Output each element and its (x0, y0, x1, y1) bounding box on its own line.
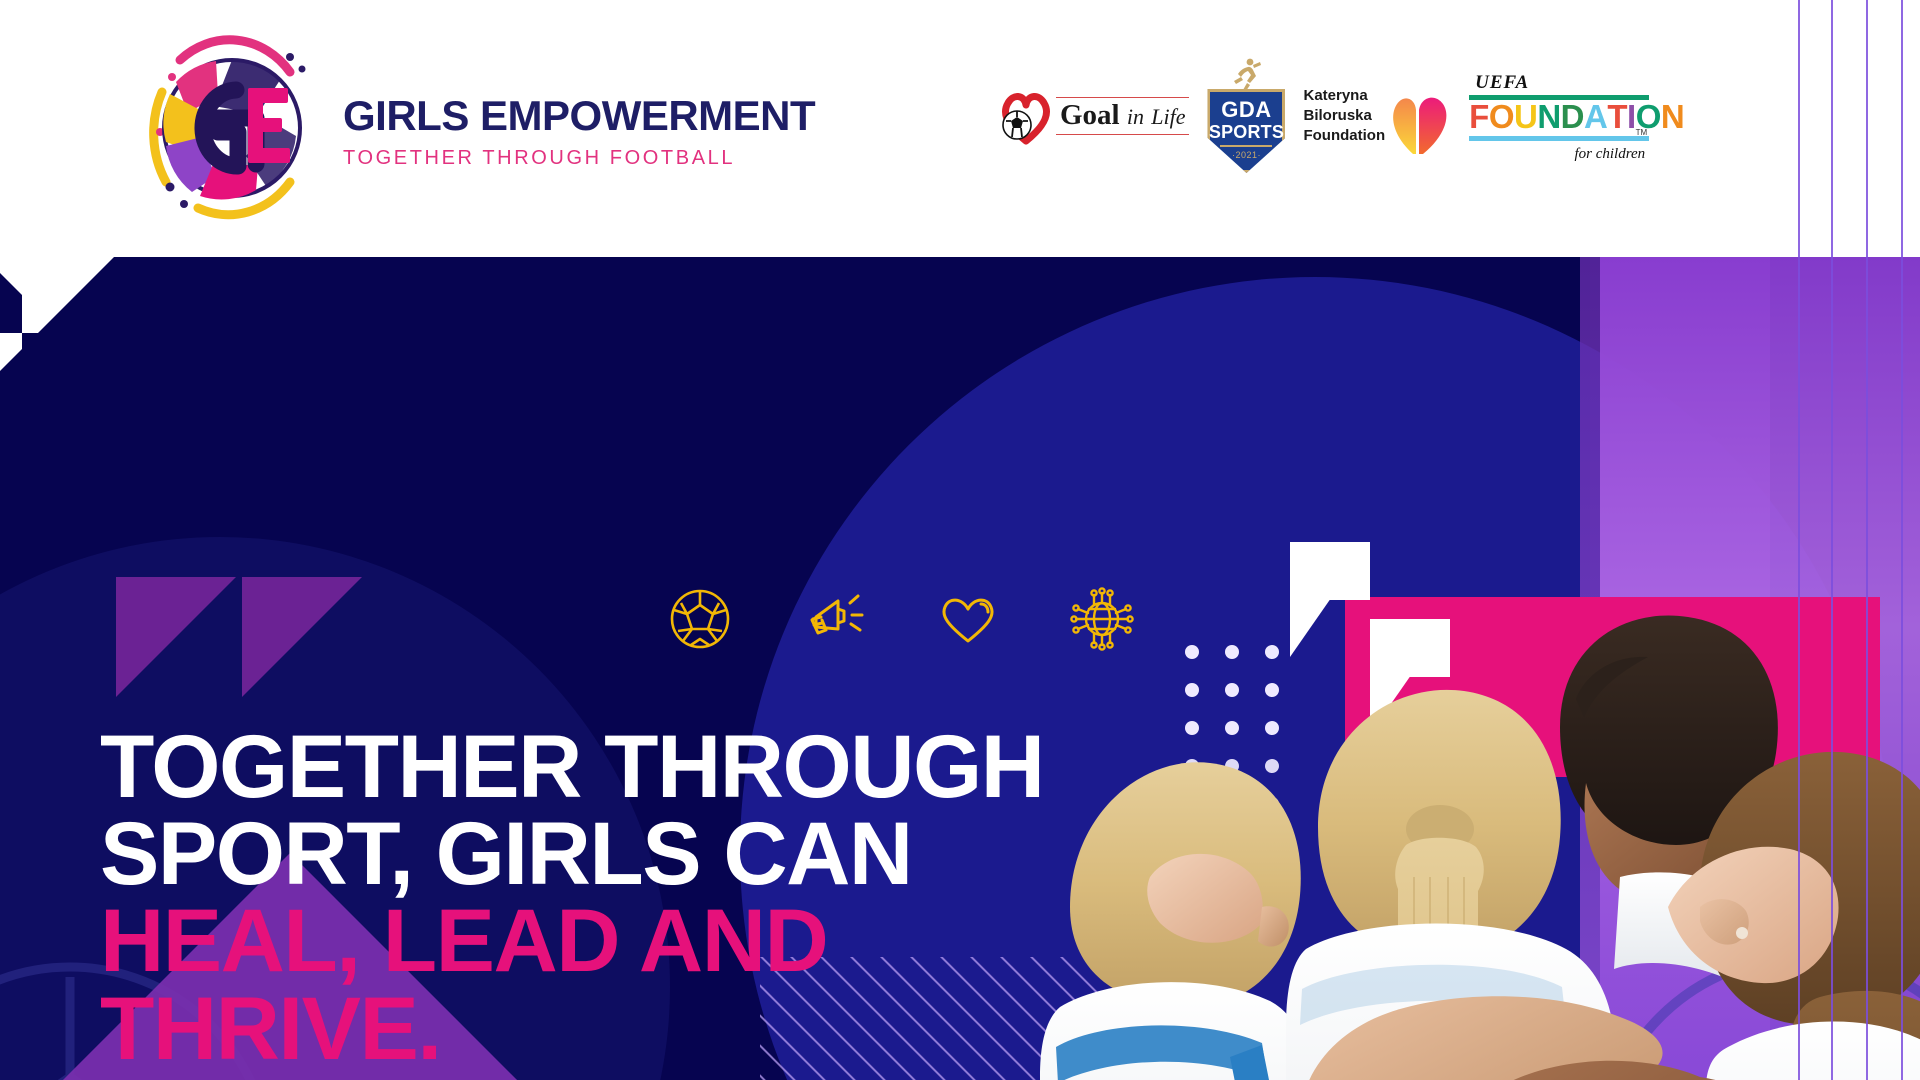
uefa-foundation-wordmark: FOUNDATION (1469, 100, 1649, 135)
gda-divider (1220, 145, 1272, 147)
kb-text-block: Kateryna Biloruska Foundation (1303, 86, 1385, 145)
goal-word-in: in (1127, 104, 1144, 129)
gda-year: ·2021· (1232, 150, 1261, 160)
icon-row (668, 587, 1134, 651)
kb-line2: Biloruska (1303, 106, 1385, 126)
megaphone-icon (802, 587, 866, 651)
partner-logo-uefa-foundation[interactable]: UEFA FOUNDATION TM for children (1469, 69, 1649, 164)
players-hug-photo (1000, 577, 1920, 1080)
heart-with-soccer-ball-icon (1000, 87, 1052, 145)
gda-shield: GDA SPORTS ·2021· (1207, 89, 1285, 173)
gda-line2: SPORTS (1209, 123, 1284, 141)
stair-diagonal-tl-mask (0, 257, 124, 397)
brand-subtitle: TOGETHER THROUGH FOOTBALL (343, 147, 815, 170)
goal-word-life: Life (1151, 104, 1185, 129)
purple-triangle-2 (242, 577, 362, 697)
goal-word-main: Goal (1060, 99, 1120, 131)
partner-logo-goal-in-life[interactable]: Goal in Life (1000, 87, 1189, 145)
goal-in-life-wordmark: Goal in Life (1056, 97, 1189, 135)
partner-logo-gda-sports[interactable]: GDA SPORTS ·2021· (1203, 57, 1289, 175)
headline-line-4: THRIVE. (100, 985, 1043, 1072)
headline-line-3: HEAL, LEAD AND (100, 897, 1043, 984)
global-network-icon (1070, 587, 1134, 651)
soccer-ball-icon (668, 587, 732, 651)
partner-logos: Goal in Life (1000, 56, 1649, 176)
headline-line-1: TOGETHER THROUGH (100, 723, 1043, 810)
girls-empowerment-ball-logo (140, 32, 315, 222)
uefa-bar-blue (1469, 136, 1649, 141)
purple-triangle-1 (116, 577, 236, 697)
brand-text-block: GIRLS EMPOWERMENT TOGETHER THROUGH FOOTB… (343, 84, 815, 170)
double-heart-icon (1383, 76, 1455, 156)
headline-line-2: SPORT, GIRLS CAN (100, 810, 1043, 897)
hero-headline: TOGETHER THROUGH SPORT, GIRLS CAN HEAL, … (100, 723, 1043, 1072)
brand-title: GIRLS EMPOWERMENT (343, 94, 815, 138)
kb-line1: Kateryna (1303, 86, 1385, 106)
heart-icon (936, 587, 1000, 651)
hero-banner: TOGETHER THROUGH SPORT, GIRLS CAN HEAL, … (0, 257, 1920, 1080)
uefa-tagline: for children (1469, 146, 1649, 163)
uefa-trademark: TM (1636, 128, 1648, 137)
partner-logo-kateryna-biloruska-foundation[interactable]: Kateryna Biloruska Foundation (1303, 76, 1455, 156)
brand-lockup[interactable]: GIRLS EMPOWERMENT TOGETHER THROUGH FOOTB… (140, 32, 815, 222)
runner-figure-icon (1229, 57, 1263, 91)
uefa-wordmark: UEFA (1475, 73, 1649, 92)
page-header: GIRLS EMPOWERMENT TOGETHER THROUGH FOOTB… (0, 0, 1920, 257)
gda-line1: GDA (1221, 99, 1271, 121)
kb-line3: Foundation (1303, 126, 1385, 146)
